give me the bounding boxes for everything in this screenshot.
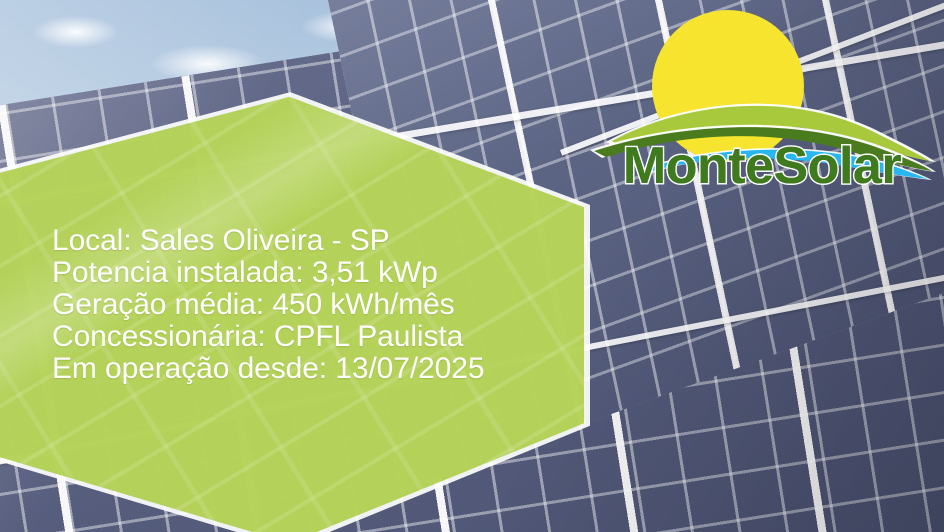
logo-brand: MonteSolar bbox=[586, 136, 938, 196]
promo-card: Local: Sales Oliveira - SP Potencia inst… bbox=[0, 0, 944, 532]
installation-details: Local: Sales Oliveira - SP Potencia inst… bbox=[52, 225, 572, 385]
detail-geracao: Geração média: 450 kWh/mês bbox=[52, 289, 572, 321]
montesolar-logo[interactable]: MonteSolar MonteSolar bbox=[586, 0, 938, 204]
detail-concessionaria: Concessionária: CPFL Paulista bbox=[52, 321, 572, 353]
detail-local: Local: Sales Oliveira - SP bbox=[52, 225, 572, 257]
detail-potencia: Potencia instalada: 3,51 kWp bbox=[52, 257, 572, 289]
detail-operacao: Em operação desde: 13/07/2025 bbox=[52, 353, 572, 385]
